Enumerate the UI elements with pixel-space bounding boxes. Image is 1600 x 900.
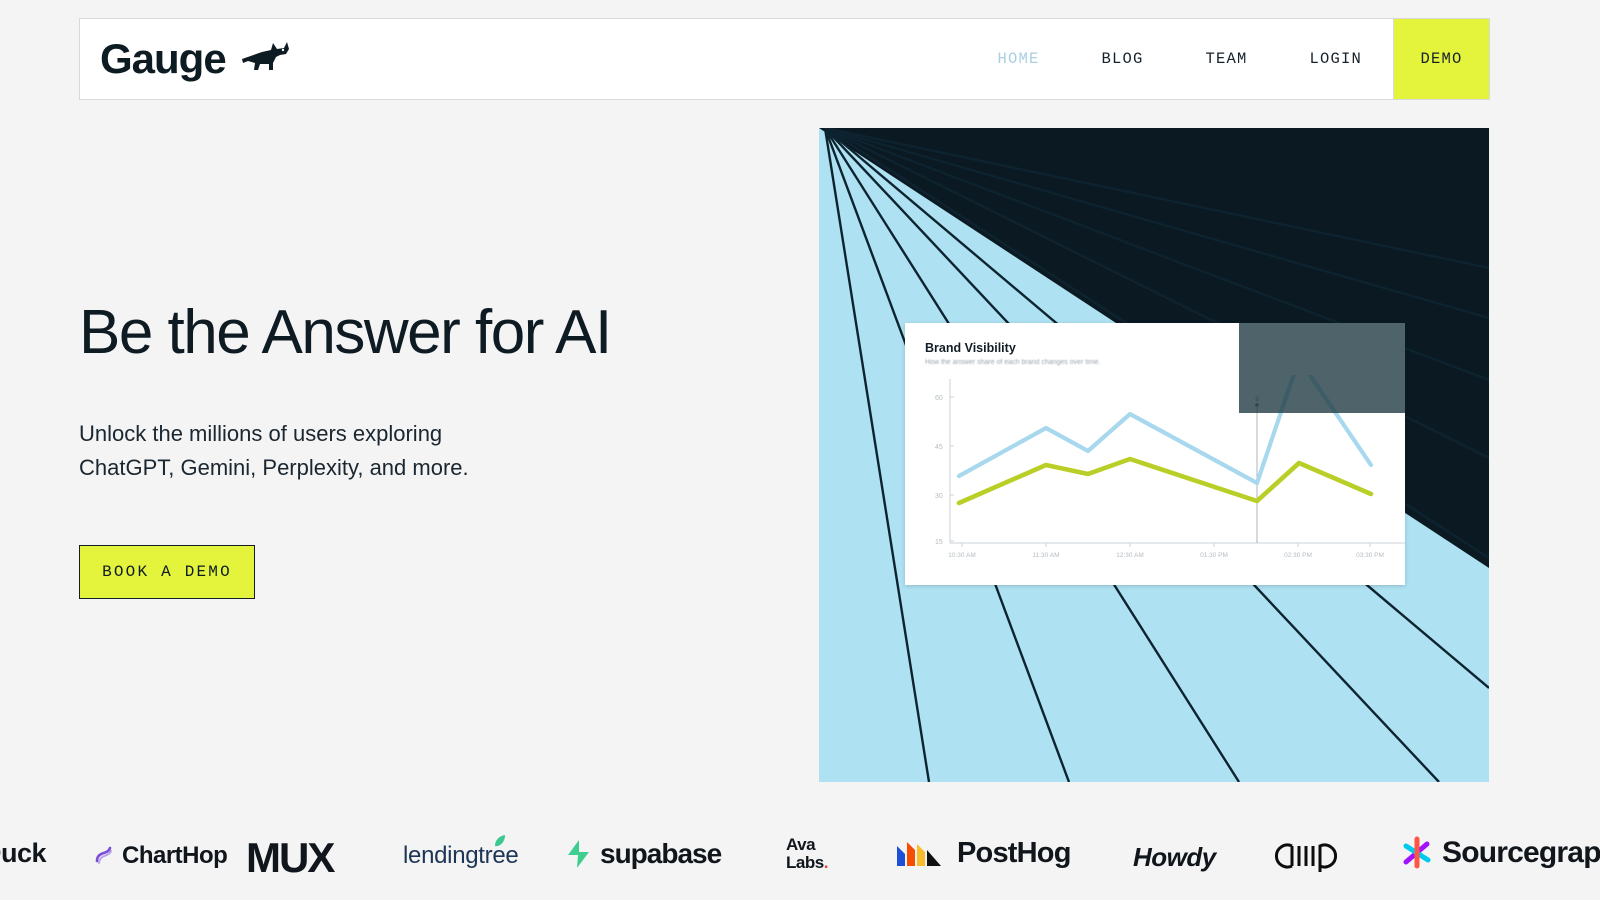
brand-name: Gauge [100, 38, 226, 80]
chart-subtitle: How the answer share of each brand chang… [925, 359, 1101, 366]
amp-wordmark-icon [1272, 838, 1344, 872]
hero-headline: Be the Answer for AI [79, 300, 739, 365]
hero-subhead-line-1: Unlock the millions of users exploring [79, 417, 739, 451]
leaf-icon [493, 833, 507, 849]
customer-logo-strip: Duck ChartHop MUX lendingtree supabase [0, 812, 1600, 900]
amp-logo [1272, 838, 1344, 872]
supabase-bolt-icon [566, 839, 592, 869]
avalabs-logo: AvaLabs. [786, 836, 828, 872]
x-tick-5: 03:30 PM [1356, 552, 1384, 559]
sourcegraph-mark-icon [1400, 836, 1434, 870]
x-tick-3: 01:30 PM [1200, 552, 1228, 559]
brand-logo[interactable]: Gauge [80, 19, 292, 99]
x-tick-0: 10:30 AM [948, 552, 975, 559]
landing-page: Gauge HOME BLOG TEAM LOGIN DEMO Be the A… [0, 0, 1600, 900]
nav-demo-button[interactable]: DEMO [1393, 19, 1489, 99]
charthop-mark-icon [94, 845, 114, 867]
brand-visibility-card[interactable]: Brand Visibility How the answer share of… [905, 323, 1405, 585]
x-tick-4: 02:30 PM [1284, 552, 1312, 559]
main-navigation: HOME BLOG TEAM LOGIN DEMO [966, 19, 1489, 99]
nav-item-team[interactable]: TEAM [1174, 19, 1278, 99]
series-green-line [959, 459, 1371, 503]
site-header: Gauge HOME BLOG TEAM LOGIN DEMO [79, 18, 1490, 100]
posthog-mark-icon [895, 836, 949, 870]
x-tick-2: 12:30 AM [1116, 552, 1143, 559]
lendingtree-logo: lendingtree [403, 842, 518, 870]
y-tick-60: 60 [935, 395, 943, 402]
howdy-logo: Howdy [1133, 842, 1216, 873]
chart-title: Brand Visibility [925, 341, 1016, 355]
nav-item-blog[interactable]: BLOG [1070, 19, 1174, 99]
duckduckgo-logo: Duck [0, 838, 46, 869]
chart-hover-dot [1255, 403, 1259, 407]
hero-subhead-line-2: ChatGPT, Gemini, Perplexity, and more. [79, 451, 739, 485]
sourcegraph-logo: Sourcegraph [1400, 836, 1600, 870]
chart-plot: 60 45 30 15 10:30 AM 11:30 AM 12:30 AM [905, 375, 1405, 585]
x-tick-1: 11:30 AM [1033, 552, 1060, 559]
nav-item-login[interactable]: LOGIN [1278, 19, 1393, 99]
hero-subhead: Unlock the millions of users exploring C… [79, 417, 739, 485]
mux-logo: MUX [246, 834, 333, 882]
book-a-demo-button[interactable]: BOOK A DEMO [79, 545, 255, 599]
nav-item-home[interactable]: HOME [966, 19, 1070, 99]
hero-copy: Be the Answer for AI Unlock the millions… [79, 300, 739, 599]
y-tick-30: 30 [935, 493, 943, 500]
y-tick-45: 45 [935, 444, 943, 451]
supabase-logo: supabase [566, 838, 721, 870]
y-tick-15: 15 [935, 539, 943, 546]
posthog-logo: PostHog [895, 836, 1071, 870]
line-chart-svg: 60 45 30 15 10:30 AM 11:30 AM 12:30 AM [905, 375, 1405, 585]
dog-icon [240, 39, 292, 80]
charthop-logo: ChartHop [94, 842, 227, 870]
chart-annotation-label: 9 [1255, 396, 1259, 403]
